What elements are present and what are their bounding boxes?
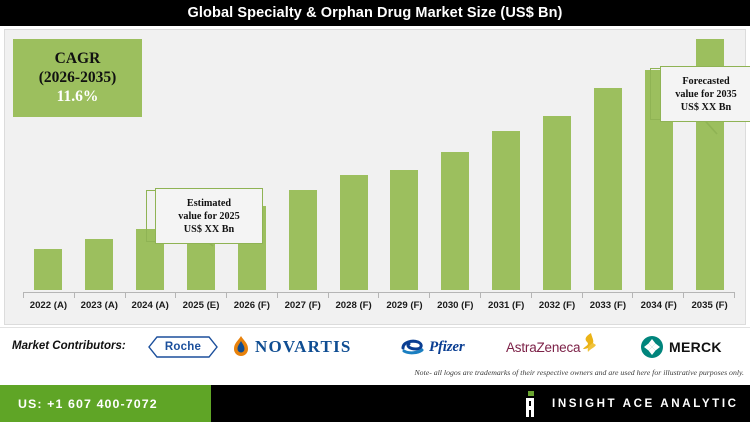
x-axis-tick bbox=[277, 292, 278, 298]
callout-forecasted-2035: Forecasted value for 2035 US$ XX Bn bbox=[660, 66, 750, 122]
x-axis-tick bbox=[531, 292, 532, 298]
title-bar: Global Specialty & Orphan Drug Market Si… bbox=[0, 0, 750, 26]
astrazeneca-label: AstraZeneca bbox=[506, 340, 580, 355]
novartis-label: NOVARTIS bbox=[255, 337, 352, 357]
x-axis-tick bbox=[175, 292, 176, 298]
x-axis-tick bbox=[23, 292, 24, 298]
x-axis-tick bbox=[632, 292, 633, 298]
insightace-logo-icon bbox=[520, 391, 540, 417]
callout-estimated-2025: Estimated value for 2025 US$ XX Bn bbox=[155, 188, 263, 244]
callout-forecasted-line3: US$ XX Bn bbox=[681, 101, 731, 114]
footer-brand-block: INSIGHT ACE ANALYTIC bbox=[520, 385, 739, 422]
x-axis-label: 2029 (F) bbox=[379, 300, 430, 311]
astrazeneca-ribbon-icon bbox=[579, 331, 599, 357]
x-axis-tick bbox=[125, 292, 126, 298]
market-contributors-label: Market Contributors: bbox=[12, 340, 126, 352]
x-axis-tick bbox=[734, 292, 735, 298]
x-axis-label: 2031 (F) bbox=[481, 300, 532, 311]
roche-label: Roche bbox=[165, 341, 201, 353]
x-axis-tick bbox=[74, 292, 75, 298]
x-axis-tick bbox=[480, 292, 481, 298]
logo-astrazeneca: AstraZeneca bbox=[506, 332, 599, 362]
x-axis-label: 2027 (F) bbox=[277, 300, 328, 311]
x-axis-tick bbox=[226, 292, 227, 298]
callout-stem-estimated bbox=[146, 190, 155, 242]
trademark-note: Note- all logos are trademarks of their … bbox=[414, 368, 744, 377]
x-axis-tick bbox=[683, 292, 684, 298]
callout-stem-forecasted bbox=[650, 68, 660, 120]
callout-estimated-line3: US$ XX Bn bbox=[184, 223, 234, 236]
x-axis-label: 2032 (F) bbox=[532, 300, 583, 311]
merck-circle-icon bbox=[640, 335, 664, 359]
market-contributors-strip: Market Contributors: Roche NOVARTIS bbox=[0, 327, 750, 385]
x-axis-labels: 2022 (A)2023 (A)2024 (A)2025 (E)2026 (F)… bbox=[23, 300, 735, 318]
footer-phone[interactable]: US: +1 607 400-7072 bbox=[18, 397, 158, 411]
x-axis-label: 2033 (F) bbox=[582, 300, 633, 311]
pfizer-label: Pfizer bbox=[429, 339, 464, 356]
callout-estimated-line2: value for 2025 bbox=[178, 210, 240, 223]
callout-forecasted-line2: value for 2035 bbox=[675, 88, 737, 101]
roche-hexagon-icon: Roche bbox=[148, 336, 218, 358]
x-axis-tick bbox=[429, 292, 430, 298]
x-axis-label: 2024 (A) bbox=[125, 300, 176, 311]
pfizer-swirl-icon bbox=[400, 337, 426, 357]
x-axis-tick bbox=[582, 292, 583, 298]
x-axis-label: 2030 (F) bbox=[430, 300, 481, 311]
infographic-root: Global Specialty & Orphan Drug Market Si… bbox=[0, 0, 750, 422]
footer-brand-name: INSIGHT ACE ANALYTIC bbox=[552, 397, 739, 410]
merck-label: MERCK bbox=[669, 339, 722, 355]
x-axis-label: 2026 (F) bbox=[226, 300, 277, 311]
logo-roche: Roche bbox=[148, 332, 218, 362]
x-axis-label: 2023 (A) bbox=[74, 300, 125, 311]
x-axis-ticks bbox=[23, 292, 735, 298]
logo-pfizer: Pfizer bbox=[400, 332, 464, 362]
footer-phone-block: US: +1 607 400-7072 bbox=[0, 385, 211, 422]
x-axis-label: 2025 (E) bbox=[176, 300, 227, 311]
x-axis-label: 2035 (F) bbox=[684, 300, 735, 311]
callout-leader-lines bbox=[5, 30, 747, 326]
chart-panel: CAGR (2026-2035) 11.6% Estimated value f… bbox=[4, 29, 746, 325]
x-axis-label: 2022 (A) bbox=[23, 300, 74, 311]
logo-merck: MERCK bbox=[640, 332, 722, 362]
novartis-flame-icon bbox=[232, 335, 250, 359]
callout-estimated-line1: Estimated bbox=[187, 197, 231, 210]
x-axis-label: 2028 (F) bbox=[328, 300, 379, 311]
x-axis-tick bbox=[378, 292, 379, 298]
logo-novartis: NOVARTIS bbox=[232, 332, 352, 362]
page-title: Global Specialty & Orphan Drug Market Si… bbox=[188, 5, 563, 21]
callout-forecasted-line1: Forecasted bbox=[682, 75, 729, 88]
x-axis-tick bbox=[328, 292, 329, 298]
x-axis-label: 2034 (F) bbox=[633, 300, 684, 311]
footer-bar: US: +1 607 400-7072 INSIGHT ACE ANALYTIC bbox=[0, 385, 750, 422]
